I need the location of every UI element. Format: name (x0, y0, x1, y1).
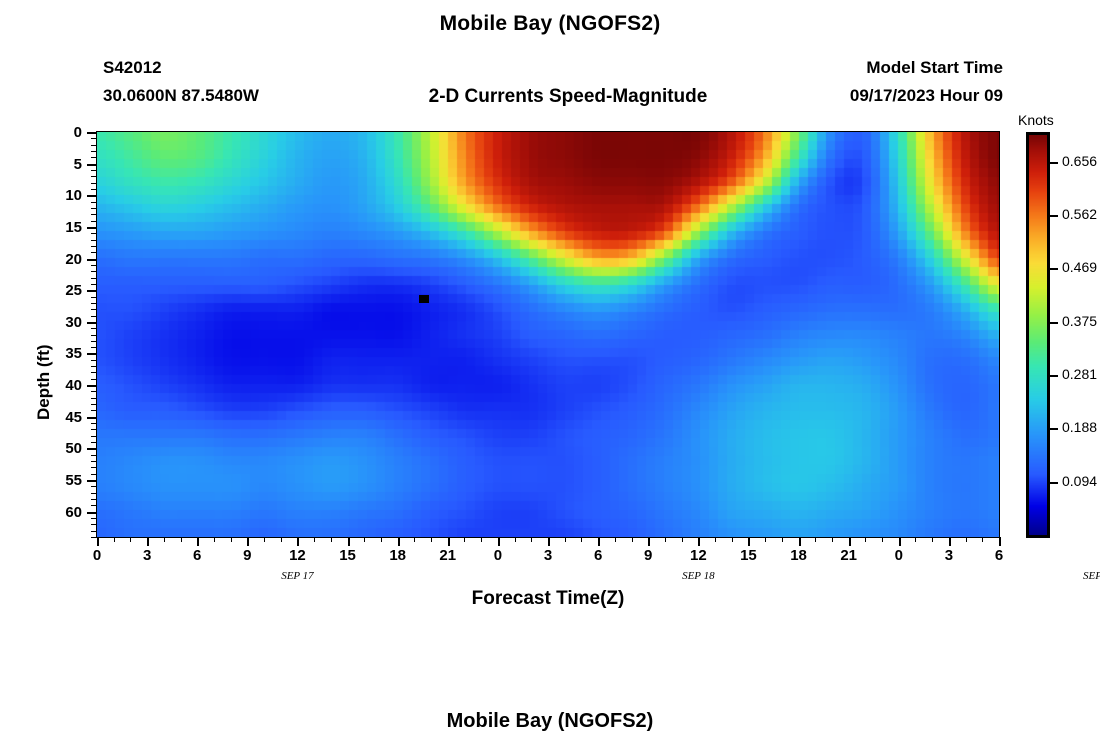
tick-mark (91, 157, 96, 158)
tick-mark (264, 537, 265, 542)
tick-mark (87, 132, 96, 134)
y-axis-title: Depth (ft) (34, 344, 54, 420)
model-start-time-value: 09/17/2023 Hour 09 (700, 86, 1003, 106)
colorbar-tick-label: 0.469 (1062, 260, 1097, 274)
tick-mark (398, 537, 400, 546)
tick-mark (91, 499, 96, 500)
tick-mark (130, 537, 131, 542)
tick-mark (91, 240, 96, 241)
x-axis-tick-label: 6 (177, 548, 217, 563)
x-axis-tick-label: 12 (678, 548, 718, 563)
tick-mark (87, 290, 96, 292)
tick-mark (97, 537, 99, 546)
tick-mark (91, 505, 96, 506)
colorbar-tick-mark (1050, 482, 1058, 484)
tick-mark (431, 537, 432, 542)
y-axis-tick-label: 25 (38, 283, 82, 298)
heatmap-canvas (97, 132, 999, 537)
tick-mark (147, 537, 149, 546)
tick-mark (91, 486, 96, 487)
tick-mark (87, 417, 96, 419)
y-axis-tick-label: 0 (38, 125, 82, 140)
tick-mark (91, 271, 96, 272)
tick-mark (815, 537, 816, 542)
colorbar-tick-label: 0.375 (1062, 314, 1097, 328)
tick-mark (932, 537, 933, 542)
tick-mark (648, 537, 650, 546)
page-title-bottom: Mobile Bay (NGOFS2) (0, 710, 1100, 733)
x-axis-tick-label: 21 (829, 548, 869, 563)
heatmap-plot-area (96, 131, 1000, 538)
colorbar-tick-label: 0.188 (1062, 420, 1097, 434)
tick-mark (782, 537, 783, 542)
tick-mark (565, 537, 566, 542)
tick-mark (91, 309, 96, 310)
tick-mark (91, 442, 96, 443)
tick-mark (999, 537, 1001, 546)
tick-mark (91, 461, 96, 462)
tick-mark (331, 537, 332, 542)
tick-mark (91, 214, 96, 215)
tick-mark (91, 493, 96, 494)
y-axis-tick-label: 60 (38, 505, 82, 520)
tick-mark (91, 537, 96, 538)
tick-mark (91, 347, 96, 348)
y-axis-tick-label: 20 (38, 252, 82, 267)
tick-mark (91, 221, 96, 222)
tick-mark (548, 537, 550, 546)
y-axis-tick-label: 30 (38, 315, 82, 330)
tick-mark (114, 537, 115, 542)
tick-mark (247, 537, 249, 546)
tick-mark (91, 170, 96, 171)
tick-mark (915, 537, 916, 542)
colorbar-tick-label: 0.094 (1062, 474, 1097, 488)
colorbar-tick-mark (1050, 428, 1058, 430)
tick-mark (91, 202, 96, 203)
colorbar-tick-mark (1050, 375, 1058, 377)
tick-mark (732, 537, 733, 542)
tick-mark (91, 410, 96, 411)
tick-mark (91, 145, 96, 146)
tick-mark (849, 537, 851, 546)
tick-mark (91, 467, 96, 468)
tick-mark (665, 537, 666, 542)
tick-mark (87, 512, 96, 514)
tick-mark (899, 537, 901, 546)
x-axis-tick-label: 3 (528, 548, 568, 563)
tick-mark (231, 537, 232, 542)
tick-mark (91, 252, 96, 253)
colorbar (1026, 132, 1050, 538)
tick-mark (87, 322, 96, 324)
tick-mark (799, 537, 801, 546)
tick-mark (91, 398, 96, 399)
station-id-label: S42012 (103, 58, 162, 78)
tick-mark (91, 524, 96, 525)
tick-mark (91, 138, 96, 139)
tick-mark (91, 303, 96, 304)
tick-mark (87, 385, 96, 387)
tick-mark (91, 366, 96, 367)
y-axis-tick-label: 15 (38, 220, 82, 235)
tick-mark (598, 537, 600, 546)
colorbar-tick-mark (1050, 162, 1058, 164)
tick-mark (214, 537, 215, 542)
tick-mark (832, 537, 833, 542)
tick-mark (615, 537, 616, 542)
x-axis-date-label: SEP 17 (252, 571, 342, 582)
x-axis-tick-label: 15 (328, 548, 368, 563)
tick-mark (966, 537, 967, 542)
colorbar-tick-mark (1050, 215, 1058, 217)
x-axis-tick-label: 9 (628, 548, 668, 563)
tick-mark (632, 537, 633, 542)
tick-mark (91, 246, 96, 247)
observation-marker (419, 295, 429, 303)
tick-mark (448, 537, 450, 546)
tick-mark (91, 208, 96, 209)
colorbar-tick-label: 0.562 (1062, 207, 1097, 221)
colorbar-canvas (1029, 135, 1047, 535)
tick-mark (715, 537, 716, 542)
tick-mark (91, 518, 96, 519)
tick-mark (91, 151, 96, 152)
tick-mark (91, 455, 96, 456)
tick-mark (882, 537, 883, 542)
tick-mark (698, 537, 700, 546)
x-axis-date-label: SEP 19 (1054, 571, 1100, 582)
tick-mark (91, 183, 96, 184)
tick-mark (87, 353, 96, 355)
tick-mark (91, 328, 96, 329)
tick-mark (91, 429, 96, 430)
tick-mark (949, 537, 951, 546)
y-axis-tick-label: 10 (38, 188, 82, 203)
tick-mark (364, 537, 365, 542)
tick-mark (164, 537, 165, 542)
tick-mark (87, 195, 96, 197)
x-axis-tick-label: 0 (478, 548, 518, 563)
tick-mark (87, 259, 96, 261)
tick-mark (982, 537, 983, 542)
tick-mark (91, 372, 96, 373)
tick-mark (91, 189, 96, 190)
colorbar-tick-mark (1050, 322, 1058, 324)
tick-mark (91, 176, 96, 177)
x-axis-tick-label: 21 (428, 548, 468, 563)
tick-mark (464, 537, 465, 542)
tick-mark (498, 537, 500, 546)
tick-mark (381, 537, 382, 542)
x-axis-tick-label: 0 (879, 548, 919, 563)
x-axis-tick-label: 9 (227, 548, 267, 563)
tick-mark (314, 537, 315, 542)
x-axis-tick-label: 15 (728, 548, 768, 563)
tick-mark (87, 480, 96, 482)
x-axis-tick-label: 18 (779, 548, 819, 563)
tick-mark (91, 391, 96, 392)
x-axis-tick-label: 6 (979, 548, 1019, 563)
tick-mark (197, 537, 199, 546)
tick-mark (414, 537, 415, 542)
tick-mark (865, 537, 866, 542)
tick-mark (765, 537, 766, 542)
tick-mark (748, 537, 750, 546)
tick-mark (181, 537, 182, 542)
x-axis-date-label: SEP 18 (653, 571, 743, 582)
tick-mark (91, 335, 96, 336)
x-axis-tick-label: 3 (929, 548, 969, 563)
x-axis-title: Forecast Time(Z) (96, 588, 1000, 610)
page-title-top: Mobile Bay (NGOFS2) (0, 12, 1100, 36)
tick-mark (531, 537, 532, 542)
tick-mark (91, 265, 96, 266)
tick-mark (87, 448, 96, 450)
tick-mark (515, 537, 516, 542)
tick-mark (297, 537, 299, 546)
station-coordinates-label: 30.0600N 87.5480W (103, 86, 259, 106)
tick-mark (281, 537, 282, 542)
tick-mark (481, 537, 482, 542)
tick-mark (91, 423, 96, 424)
tick-mark (91, 379, 96, 380)
tick-mark (682, 537, 683, 542)
x-axis-tick-label: 6 (578, 548, 618, 563)
tick-mark (581, 537, 582, 542)
colorbar-unit-label: Knots (1018, 112, 1054, 128)
tick-mark (91, 284, 96, 285)
y-axis-tick-label: 55 (38, 473, 82, 488)
tick-mark (91, 233, 96, 234)
colorbar-tick-mark (1050, 268, 1058, 270)
tick-mark (91, 341, 96, 342)
x-axis-tick-label: 18 (378, 548, 418, 563)
tick-mark (91, 316, 96, 317)
y-axis-tick-label: 5 (38, 157, 82, 172)
tick-mark (91, 404, 96, 405)
tick-mark (91, 297, 96, 298)
x-axis-tick-label: 12 (277, 548, 317, 563)
tick-mark (91, 278, 96, 279)
x-axis-tick-label: 0 (77, 548, 117, 563)
y-axis-tick-label: 50 (38, 441, 82, 456)
tick-mark (91, 360, 96, 361)
tick-mark (348, 537, 350, 546)
colorbar-tick-label: 0.656 (1062, 154, 1097, 168)
model-start-time-label: Model Start Time (700, 58, 1003, 78)
tick-mark (91, 436, 96, 437)
tick-mark (87, 164, 96, 166)
tick-mark (91, 531, 96, 532)
colorbar-tick-label: 0.281 (1062, 367, 1097, 381)
tick-mark (87, 227, 96, 229)
x-axis-tick-label: 3 (127, 548, 167, 563)
tick-mark (91, 474, 96, 475)
